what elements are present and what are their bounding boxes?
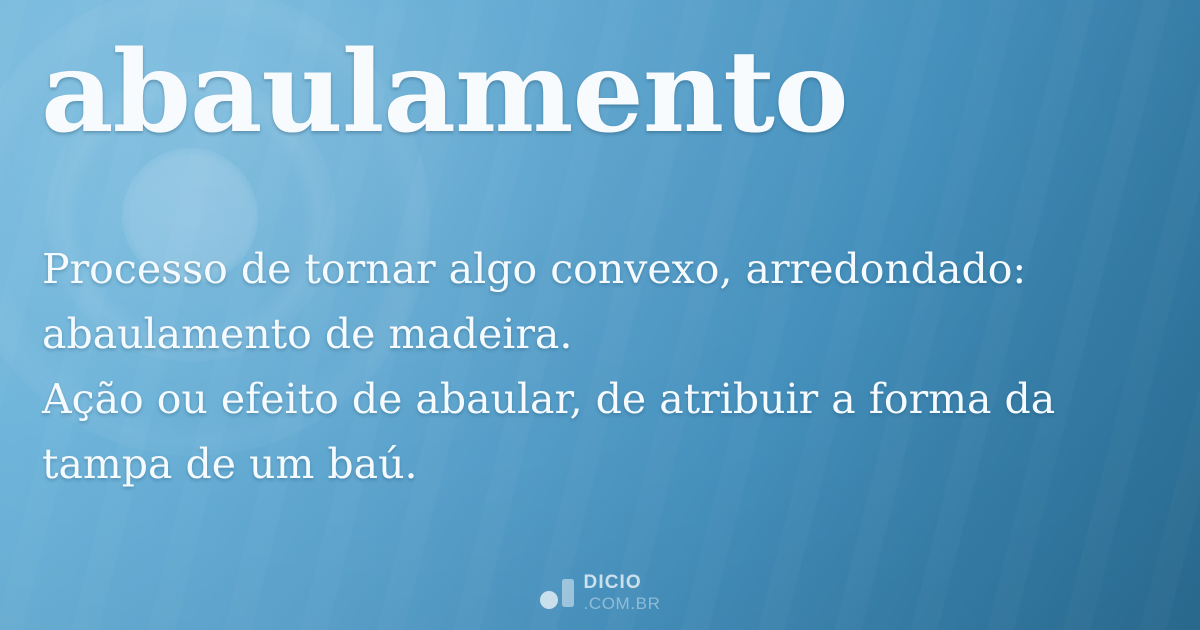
word-definition-card: abaulamento Processo de tornar algo conv… (0, 0, 1200, 630)
rounded-bar-icon (562, 579, 574, 607)
definition-item: Ação ou efeito de abaular, de atribuir a… (42, 367, 1157, 497)
logo-wordmark: DICIO .COM.BR (584, 573, 661, 612)
definition-list: Processo de tornar algo convexo, arredon… (42, 237, 1157, 497)
circle-icon (540, 591, 558, 609)
site-logo[interactable]: DICIO .COM.BR (0, 573, 1200, 612)
card-content: abaulamento Processo de tornar algo conv… (0, 0, 1200, 630)
logo-name: DICIO (584, 573, 661, 592)
definition-item: Processo de tornar algo convexo, arredon… (42, 237, 1157, 367)
logo-tld: .COM.BR (584, 595, 661, 612)
page-title: abaulamento (41, 34, 848, 153)
dicio-logo-mark (540, 577, 574, 609)
